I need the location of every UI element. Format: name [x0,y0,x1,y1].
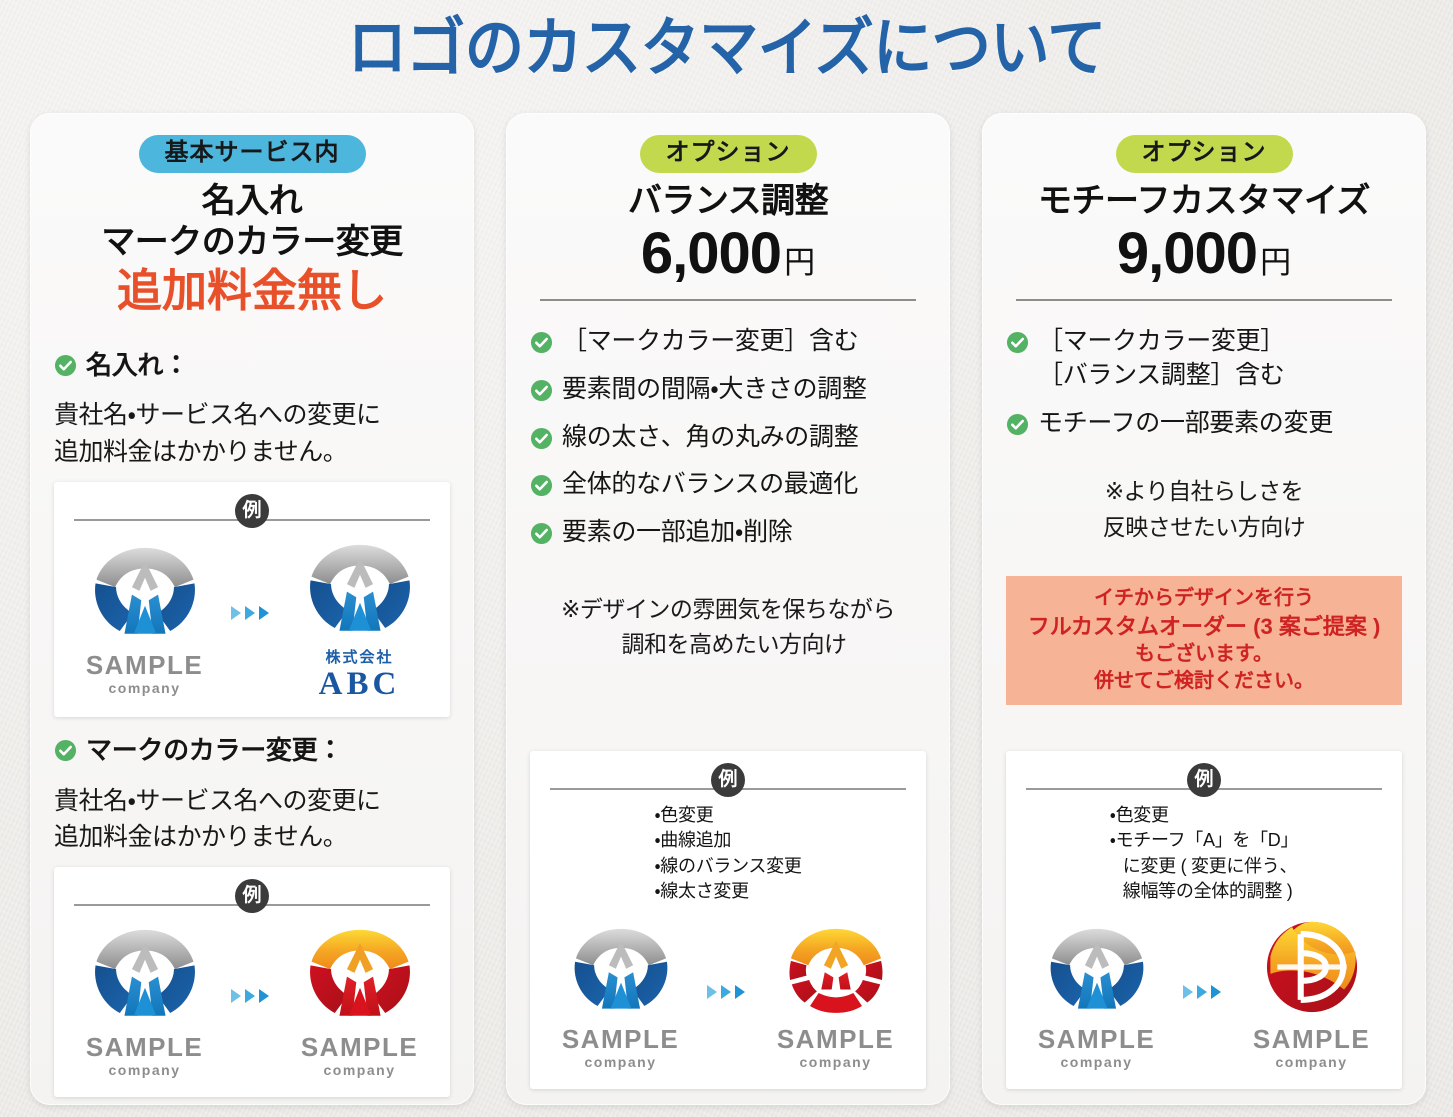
example-chip: 例 [711,763,745,797]
example-list-item: ・線太さ変更 [654,879,748,905]
card-title-balance: バランス調整 [530,181,926,222]
feature-heading-text: マークのカラー変更： [86,733,343,768]
badge-row: オプション [530,135,926,173]
spacer [1006,705,1402,751]
note-line-2: 調和を高めたい方向け [530,627,926,663]
wordmark-after: SAMPLE company [301,1034,418,1081]
logo-mark-red-a [304,915,416,1032]
example-chip: 例 [1187,763,1221,797]
wordmark-main: SAMPLE [301,1034,418,1060]
note-line-2: 反映させたい方向け [1006,510,1402,546]
callout-full-custom-order: イチからデザインを行う フルカスタムオーダー (3 案ご提案 ) もございます。… [1006,576,1402,706]
example-list-item: ・モチーフ「A」を「D」 [1110,828,1298,854]
example-box-color: 例 [54,867,450,1097]
badge-basic-service: 基本サービス内 [139,135,366,173]
example-change-list: ・色変更 ・モチーフ「A」を「D」 に変更 ( 変更に伴う、 線幅等の全体的調整… [1110,799,1298,915]
wordmark-main: SAMPLE [86,652,203,678]
logo-mark-blue-a [569,915,673,1024]
feature-list-motif: ［マークカラー変更］ ［バランス調整］含む モチーフの一部要素の変更 [1006,325,1402,440]
example-after: SAMPLE company [1237,915,1386,1073]
feature-section-naming: 名入れ： 貴社名・サービス名への変更に 追加料金はかかりません。 [54,348,450,470]
green-check-icon [530,474,553,497]
card-title-basic: 名入れ マークのカラー変更 [54,181,450,263]
wordmark-sub: company [1038,1052,1155,1073]
green-check-icon [54,739,77,762]
example-box-balance: 例 ・色変更 ・曲線追加 ・線のバランス変更 ・線太さ変更 [530,751,926,1089]
example-header: 例 [1026,771,1382,793]
card-title-line-2: マークのカラー変更 [54,222,450,263]
green-check-icon [54,354,77,377]
wordmark-main: SAMPLE [1253,1026,1370,1052]
card-title-motif: モチーフカスタマイズ [1006,181,1402,222]
wordmark-main: SAMPLE [86,1034,203,1060]
example-header: 例 [74,887,430,909]
wordmark-after: SAMPLE company [1253,1026,1370,1073]
note-motif: ※より自社らしさを 反映させたい方向け [1006,474,1402,545]
green-check-icon [530,522,553,545]
example-chip: 例 [235,494,269,528]
example-after: SAMPLE company [285,915,434,1081]
feature-item: ［マークカラー変更］含む [530,325,926,359]
feature-list-balance: ［マークカラー変更］含む 要素間の間隔・大きさの調整 線の太さ、角の丸みの調整 … [530,325,926,550]
logo-mark-blue-a [1045,915,1149,1024]
logo-mark-blue-a-alt [304,530,416,647]
note-line-1: ※デザインの雰囲気を保ちながら [530,592,926,628]
example-after: 株式会社 ABC [285,530,434,702]
example-change-list-wrap: ・色変更 ・曲線追加 ・線のバランス変更 ・線太さ変更 [546,799,910,915]
wordmark-sub: company [86,1060,203,1081]
feature-item-motif-change: モチーフの一部要素の変更 [1006,407,1402,441]
example-header: 例 [550,771,906,793]
example-box-motif: 例 ・色変更 ・モチーフ「A」を「D」 に変更 ( 変更に伴う、 線幅等の全体的… [1006,751,1402,1089]
price-motif: 9,000円 [1006,224,1402,285]
feature-text-line-2: ［バランス調整］含む [1038,359,1285,393]
example-list-item: ・曲線追加 [654,828,731,854]
body-line-2: 追加料金はかかりません。 [54,434,450,470]
green-check-icon [1006,331,1029,354]
wordmark-before: SAMPLE company [86,1034,203,1081]
green-check-icon [530,331,553,354]
note-line-1: ※より自社らしさを [1006,474,1402,510]
triple-arrow-icon [703,983,753,1006]
feature-item: 要素間の間隔・大きさの調整 [530,373,926,407]
logo-mark-red-d [1260,915,1364,1024]
card-title-line-1: モチーフカスタマイズ [1006,181,1402,222]
card-title-line-1: バランス調整 [530,181,926,222]
feature-body-color: 貴社名・サービス名への変更に 追加料金はかかりません。 [54,783,450,856]
card-balance-adjustment: オプション バランス調整 6,000円 ［マークカラー変更］含む 要素間の間隔・… [506,113,950,1105]
header-divider [1016,299,1392,301]
callout-line-4: 併せてご検討ください。 [1012,668,1396,695]
callout-line-2: フルカスタムオーダー (3 案ご提案 ) [1012,612,1396,642]
example-content: SAMPLE company [546,915,910,1073]
triple-arrow-icon [227,987,277,1010]
wordmark-before: SAMPLE company [562,1026,679,1073]
logo-mark-blue-a [89,915,201,1032]
example-content: SAMPLE company [1022,915,1386,1073]
wordmark-sub: company [562,1052,679,1073]
example-list-item: ・色変更 [654,803,713,829]
wordmark-after-abc: 株式会社 ABC [319,649,401,702]
green-check-icon [1006,413,1029,436]
wordmark-sub: company [777,1052,894,1073]
feature-heading-text: 名入れ： [86,348,189,383]
wordmark-sub: company [301,1060,418,1081]
example-list-item-cont: 線幅等の全体的調整 ) [1110,879,1293,905]
logo-mark-blue-a [89,533,201,650]
price-amount: 9,000 [1117,221,1257,286]
logo-mark-red-globe-a [784,915,888,1024]
body-line-1: 貴社名・サービス名への変更に [54,397,450,433]
feature-body-naming: 貴社名・サービス名への変更に 追加料金はかかりません。 [54,397,450,470]
feature-item: 線の太さ、角の丸みの調整 [530,421,926,455]
card-basic-service: 基本サービス内 名入れ マークのカラー変更 追加料金無し 名入れ： 貴社名・サー… [30,113,474,1105]
price-unit: 円 [784,245,815,280]
example-change-list: ・色変更 ・曲線追加 ・線のバランス変更 ・線太さ変更 [654,799,801,915]
example-list-item: ・色変更 [1110,803,1169,829]
price-amount: 6,000 [641,221,781,286]
example-before: SAMPLE company [546,915,695,1073]
feature-text: 全体的なバランスの最適化 [562,468,858,502]
feature-text: 要素間の間隔・大きさの調整 [562,373,867,407]
example-before: SAMPLE company [70,915,219,1081]
badge-row: 基本サービス内 [54,135,450,173]
badge-row: オプション [1006,135,1402,173]
example-content: SAMPLE company [70,915,434,1081]
feature-item: 全体的なバランスの最適化 [530,468,926,502]
example-change-list-wrap: ・色変更 ・モチーフ「A」を「D」 に変更 ( 変更に伴う、 線幅等の全体的調整… [1022,799,1386,915]
example-content: SAMPLE company [70,530,434,702]
wordmark-main: SAMPLE [1038,1026,1155,1052]
feature-section-color: マークのカラー変更： 貴社名・サービス名への変更に 追加料金はかかりません。 [54,733,450,855]
example-before: SAMPLE company [70,533,219,699]
wordmark-main: SAMPLE [777,1026,894,1052]
example-box-naming: 例 [54,482,450,718]
body-line-2: 追加料金はかかりません。 [54,819,450,855]
feature-heading-color: マークのカラー変更： [54,733,450,768]
infographic-page: ロゴのカスタマイズについて 基本サービス内 名入れ マークのカラー変更 追加料金… [0,0,1453,1117]
callout-line-1: イチからデザインを行う [1012,585,1396,612]
triple-arrow-icon [227,604,277,627]
body-line-1: 貴社名・サービス名への変更に [54,783,450,819]
example-list-item: ・線のバランス変更 [654,854,801,880]
wordmark-company-prefix: 株式会社 [319,649,401,667]
wordmark-before: SAMPLE company [86,652,203,699]
feature-heading-naming: 名入れ： [54,348,450,383]
feature-text: 要素の一部追加・削除 [562,516,793,550]
header-divider [540,299,916,301]
spacer [530,663,926,751]
example-after: SAMPLE company [761,915,910,1073]
green-check-icon [530,427,553,450]
wordmark-abc: ABC [319,667,401,702]
card-motif-customize: オプション モチーフカスタマイズ 9,000円 ［マークカラー変更］ ［バランス… [982,113,1426,1105]
feature-item-includes: ［マークカラー変更］ ［バランス調整］含む [1006,325,1402,393]
price-unit: 円 [1260,245,1291,280]
feature-text: モチーフの一部要素の変更 [1038,407,1333,441]
page-title: ロゴのカスタマイズについて [51,16,1402,81]
wordmark-main: SAMPLE [562,1026,679,1052]
note-balance: ※デザインの雰囲気を保ちながら 調和を高めたい方向け [530,592,926,663]
price-free-label: 追加料金無し [54,267,450,314]
pricing-cards-row: 基本サービス内 名入れ マークのカラー変更 追加料金無し 名入れ： 貴社名・サー… [30,113,1426,1105]
wordmark-after: SAMPLE company [777,1026,894,1073]
example-before: SAMPLE company [1022,915,1171,1073]
wordmark-sub: company [86,678,203,699]
callout-line-3: もございます。 [1012,641,1396,668]
card-title-line-1: 名入れ [54,181,450,222]
price-balance: 6,000円 [530,224,926,285]
green-check-icon [530,379,553,402]
feature-text-line-1: ［マークカラー変更］ [1038,325,1285,359]
example-list-item-cont: に変更 ( 変更に伴う、 [1110,854,1297,880]
badge-option: オプション [1116,135,1293,173]
badge-option: オプション [640,135,817,173]
wordmark-sub: company [1253,1052,1370,1073]
feature-text: 線の太さ、角の丸みの調整 [562,421,858,455]
example-header: 例 [74,502,430,524]
feature-item: 要素の一部追加・削除 [530,516,926,550]
feature-text: ［マークカラー変更］含む [562,325,858,359]
example-chip: 例 [235,879,269,913]
triple-arrow-icon [1179,983,1229,1006]
wordmark-before: SAMPLE company [1038,1026,1155,1073]
feature-text-includes: ［マークカラー変更］ ［バランス調整］含む [1038,325,1285,393]
